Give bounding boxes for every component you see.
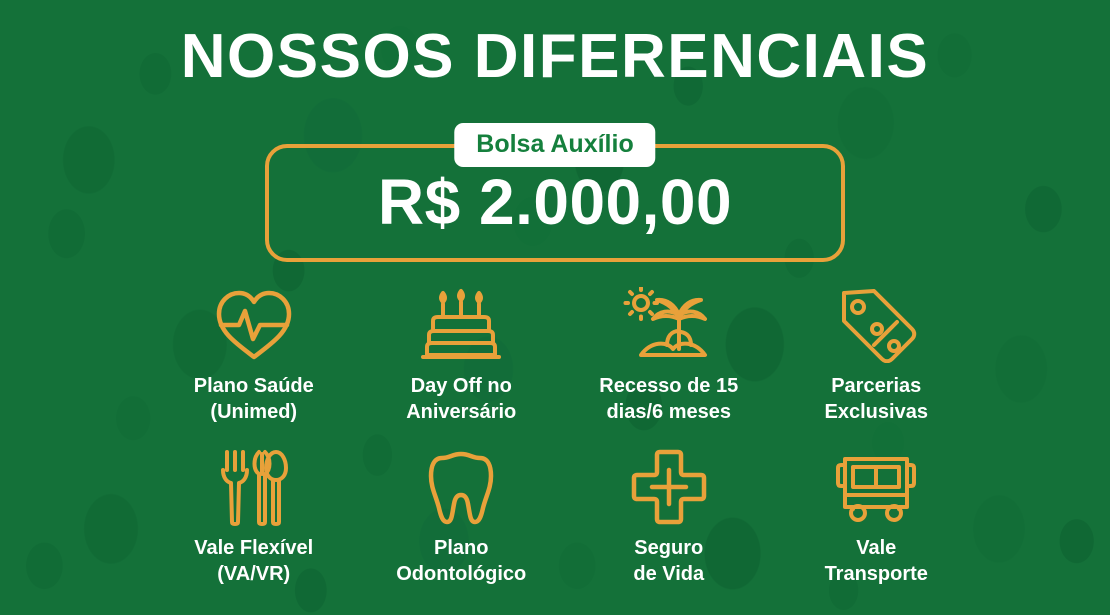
palm-island-icon xyxy=(623,285,715,365)
benefit-item: Vale Flexível (VA/VR) xyxy=(150,447,358,587)
price-tag-icon xyxy=(832,285,920,365)
benefit-label: Day Off no Aniversário xyxy=(406,373,516,425)
bus-icon xyxy=(833,447,919,527)
benefit-label: Recesso de 15 dias/6 meses xyxy=(599,373,738,425)
benefit-item: Seguro de Vida xyxy=(565,447,773,587)
benefit-item: Vale Transporte xyxy=(773,447,981,587)
cutlery-icon xyxy=(219,447,289,527)
benefit-label: Plano Saúde (Unimed) xyxy=(194,373,314,425)
benefit-item: Parcerias Exclusivas xyxy=(773,285,981,425)
page-title: NOSSOS DIFERENCIAIS xyxy=(0,24,1110,89)
benefit-label: Parcerias Exclusivas xyxy=(825,373,928,425)
birthday-cake-icon xyxy=(421,285,501,365)
benefit-item: Plano Saúde (Unimed) xyxy=(150,285,358,425)
allowance-badge-label: Bolsa Auxílio xyxy=(454,123,655,167)
benefit-item: Day Off no Aniversário xyxy=(358,285,566,425)
heart-pulse-icon xyxy=(211,285,297,365)
benefit-label: Plano Odontológico xyxy=(396,535,526,587)
benefit-label: Vale Flexível (VA/VR) xyxy=(194,535,313,587)
tooth-icon xyxy=(428,447,494,527)
medical-cross-shield-icon xyxy=(630,447,708,527)
benefit-label: Seguro de Vida xyxy=(633,535,704,587)
allowance-amount: R$ 2.000,00 xyxy=(0,165,1110,239)
benefit-item: Plano Odontológico xyxy=(358,447,566,587)
benefits-poster: NOSSOS DIFERENCIAIS Bolsa Auxílio R$ 2.0… xyxy=(0,0,1110,615)
benefit-item: Recesso de 15 dias/6 meses xyxy=(565,285,773,425)
benefits-grid: Plano Saúde (Unimed) Day O xyxy=(150,285,980,587)
poster-content: NOSSOS DIFERENCIAIS Bolsa Auxílio R$ 2.0… xyxy=(0,0,1110,615)
benefit-label: Vale Transporte xyxy=(825,535,928,587)
